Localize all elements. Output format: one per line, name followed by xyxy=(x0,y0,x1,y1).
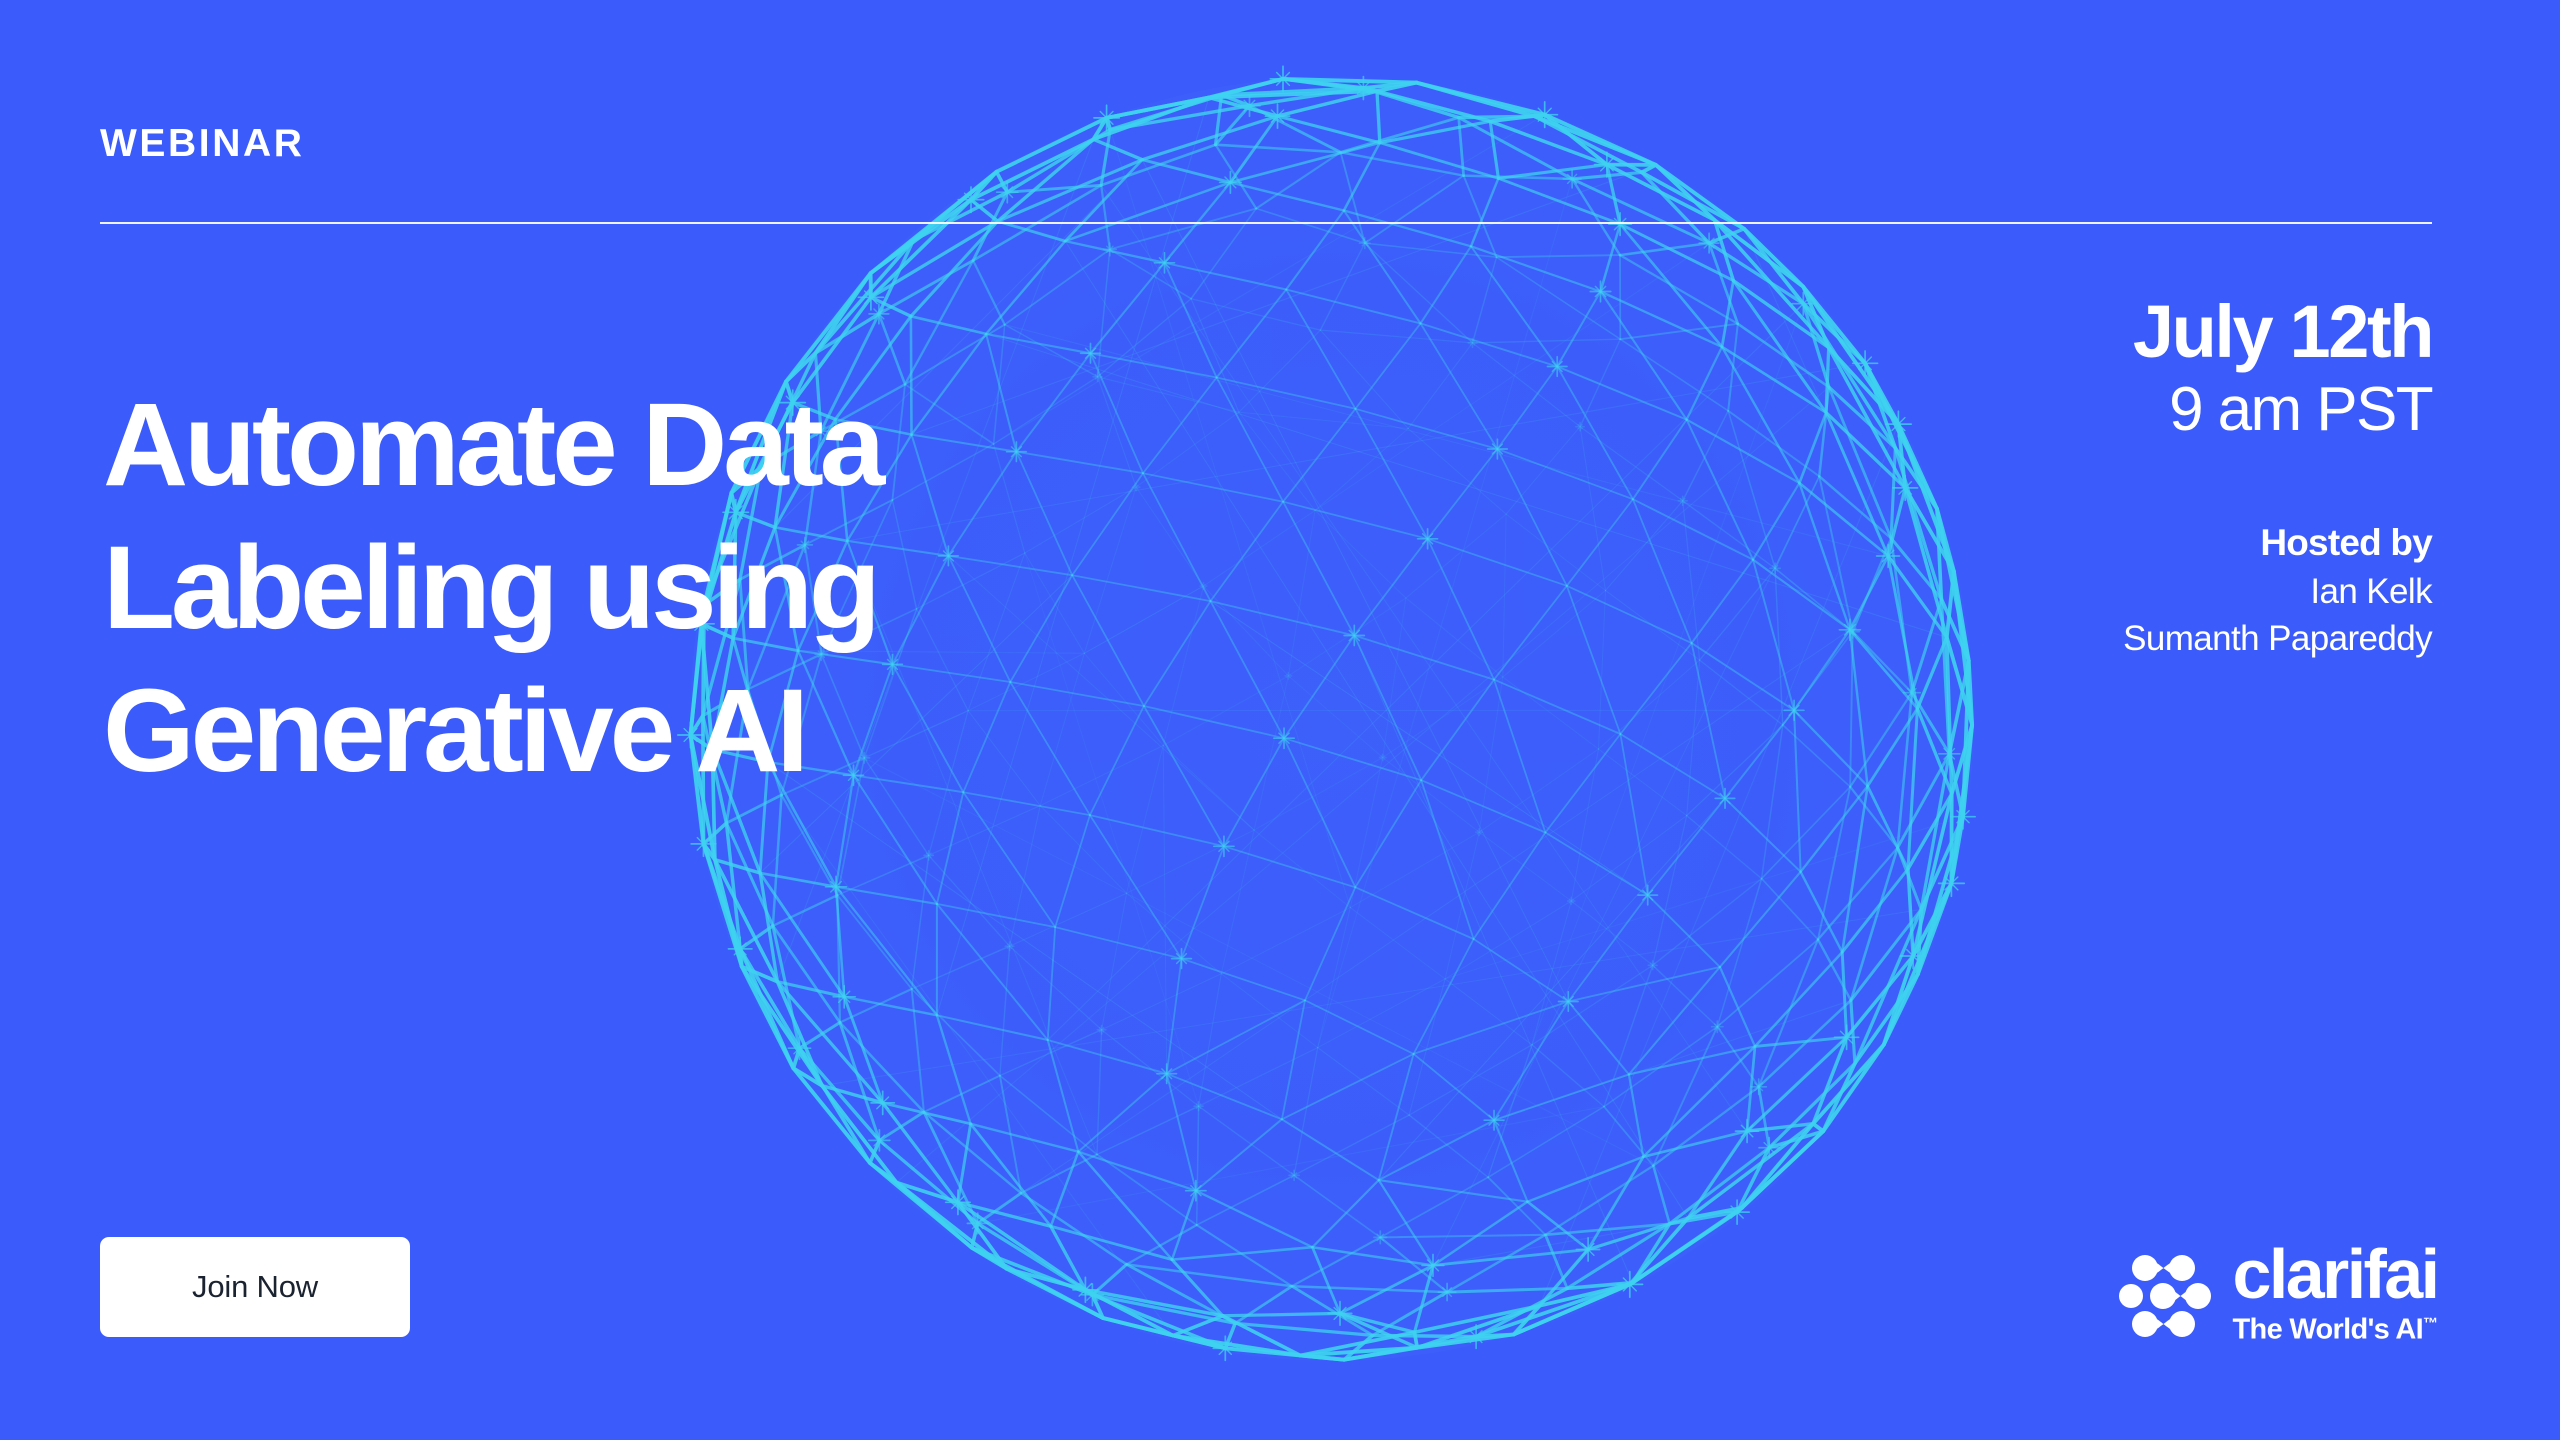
header-divider xyxy=(100,222,2432,224)
clarifai-wordmark: clarifai xyxy=(2233,1243,2438,1305)
webinar-promo-canvas: WEBINAR Automate Data Labeling using Gen… xyxy=(0,0,2560,1440)
eyebrow-label: WEBINAR xyxy=(100,124,305,163)
event-details: July 12th 9 am PST Hosted by Ian Kelk Su… xyxy=(1532,292,2432,662)
event-date: July 12th xyxy=(1532,292,2432,372)
host-name: Ian Kelk xyxy=(1532,568,2432,615)
clarifai-wordmark-group: clarifai The World's AI™ xyxy=(2233,1243,2438,1349)
page-title: Automate Data Labeling using Generative … xyxy=(103,374,881,803)
headline-line-3: Generative AI xyxy=(103,660,881,803)
headline-line-1: Automate Data xyxy=(103,374,881,517)
tagline-text: The World's AI xyxy=(2233,1314,2423,1346)
clarifai-tagline: The World's AI™ xyxy=(2233,1305,2438,1349)
clarifai-mark-icon xyxy=(2119,1253,2211,1339)
clarifai-logo: clarifai The World's AI™ xyxy=(2119,1243,2438,1349)
hosted-by-label: Hosted by xyxy=(1532,518,2432,568)
host-name: Sumanth Papareddy xyxy=(1532,615,2432,662)
event-time: 9 am PST xyxy=(1532,372,2432,448)
trademark-symbol: ™ xyxy=(2423,1315,2438,1332)
headline-line-2: Labeling using xyxy=(103,517,881,660)
join-now-button[interactable]: Join Now xyxy=(100,1237,410,1337)
hosts-block: Hosted by Ian Kelk Sumanth Papareddy xyxy=(1532,518,2432,662)
